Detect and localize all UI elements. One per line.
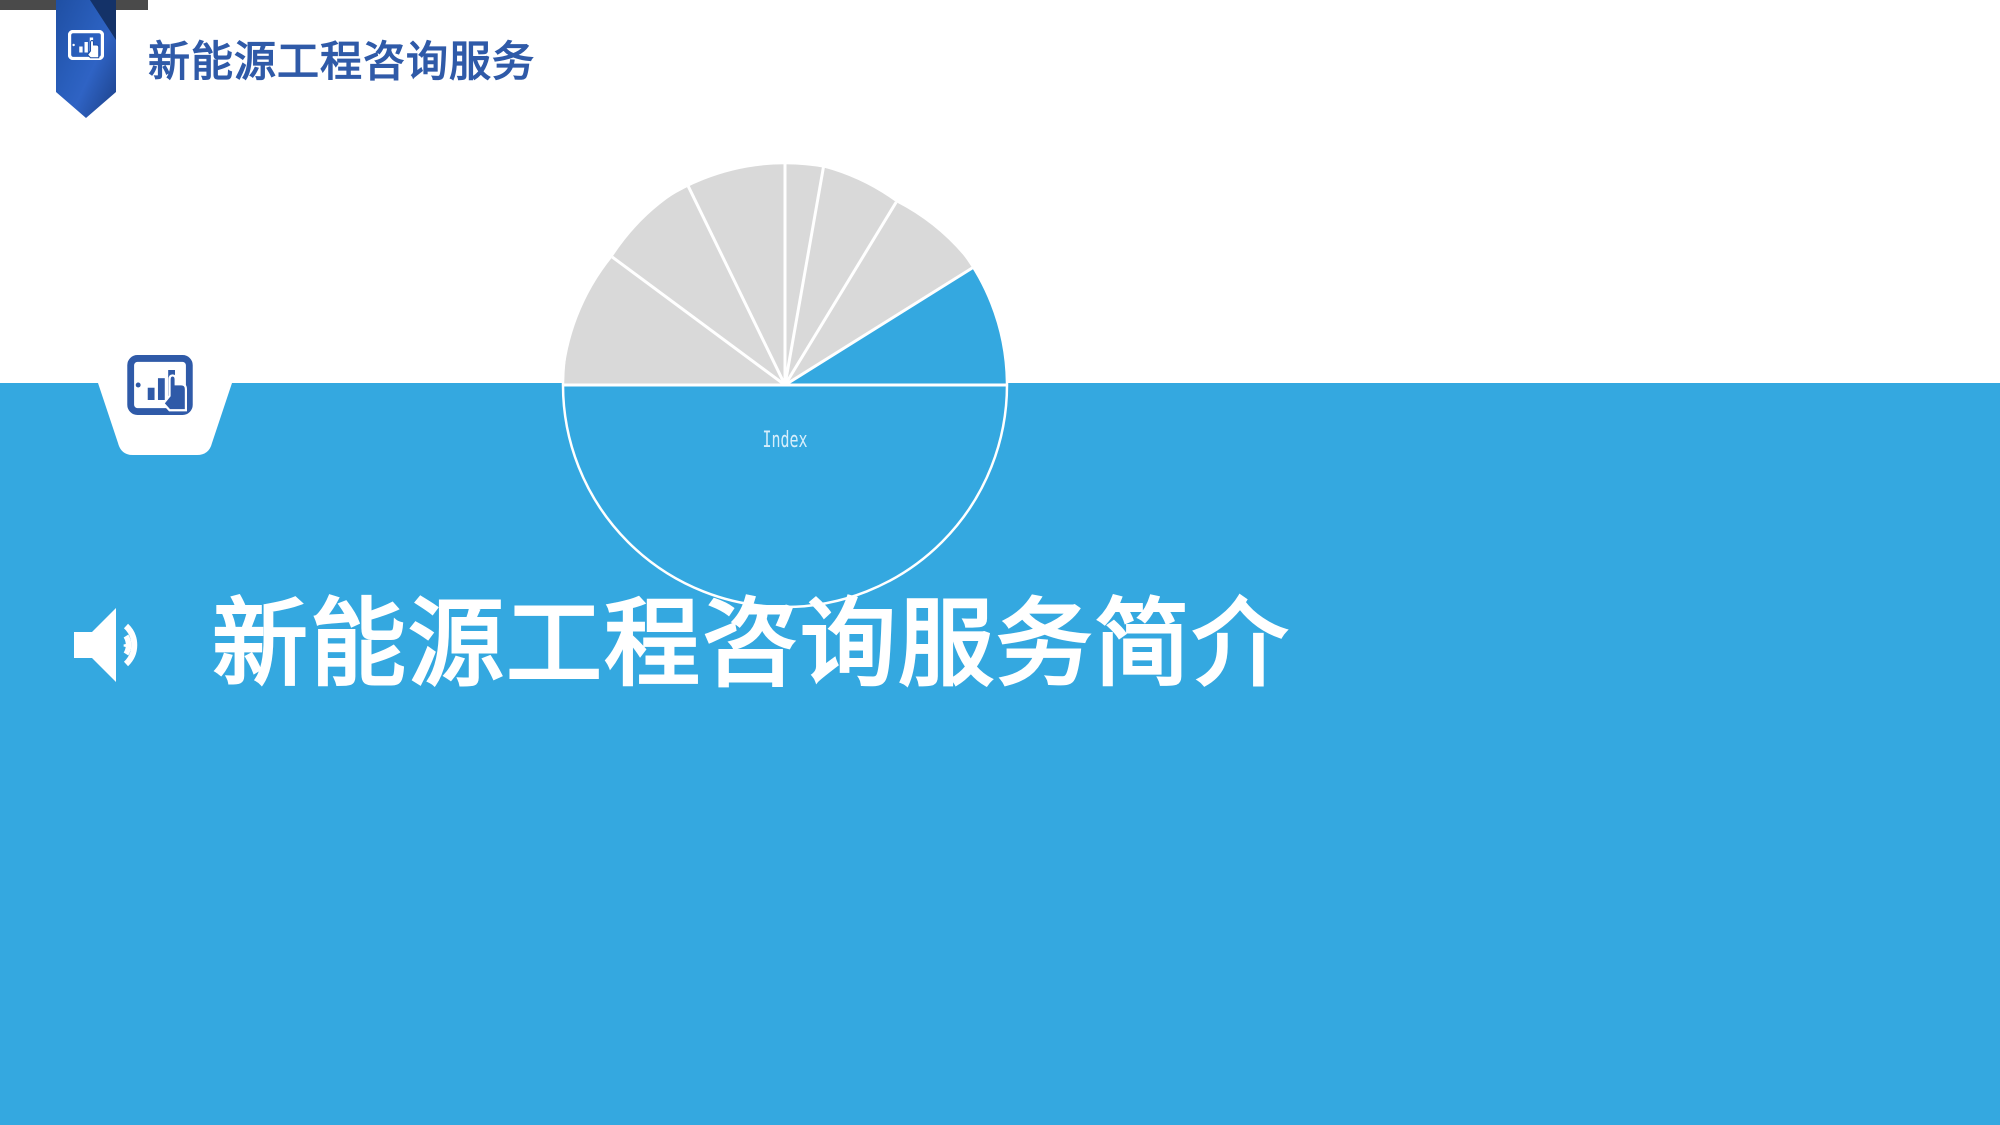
tab-badge [98,383,232,455]
main-title-row: 新能源工程咨询服务简介 [70,595,1290,696]
page-title: 新能源工程咨询服务简介 [212,595,1290,696]
pie-center-label: Index [632,428,938,453]
tablet-touch-icon [127,355,193,415]
header-ribbon [28,0,148,140]
pie-slice-bottom [563,385,1007,607]
pie-svg [560,160,1010,610]
speaker-sound-icon [70,600,170,690]
tablet-touch-icon [68,30,104,60]
slide-canvas: 新能源工程咨询服务 [0,0,2000,1125]
header-title: 新能源工程咨询服务 [148,28,535,89]
index-pie-chart: Index [560,160,1010,610]
